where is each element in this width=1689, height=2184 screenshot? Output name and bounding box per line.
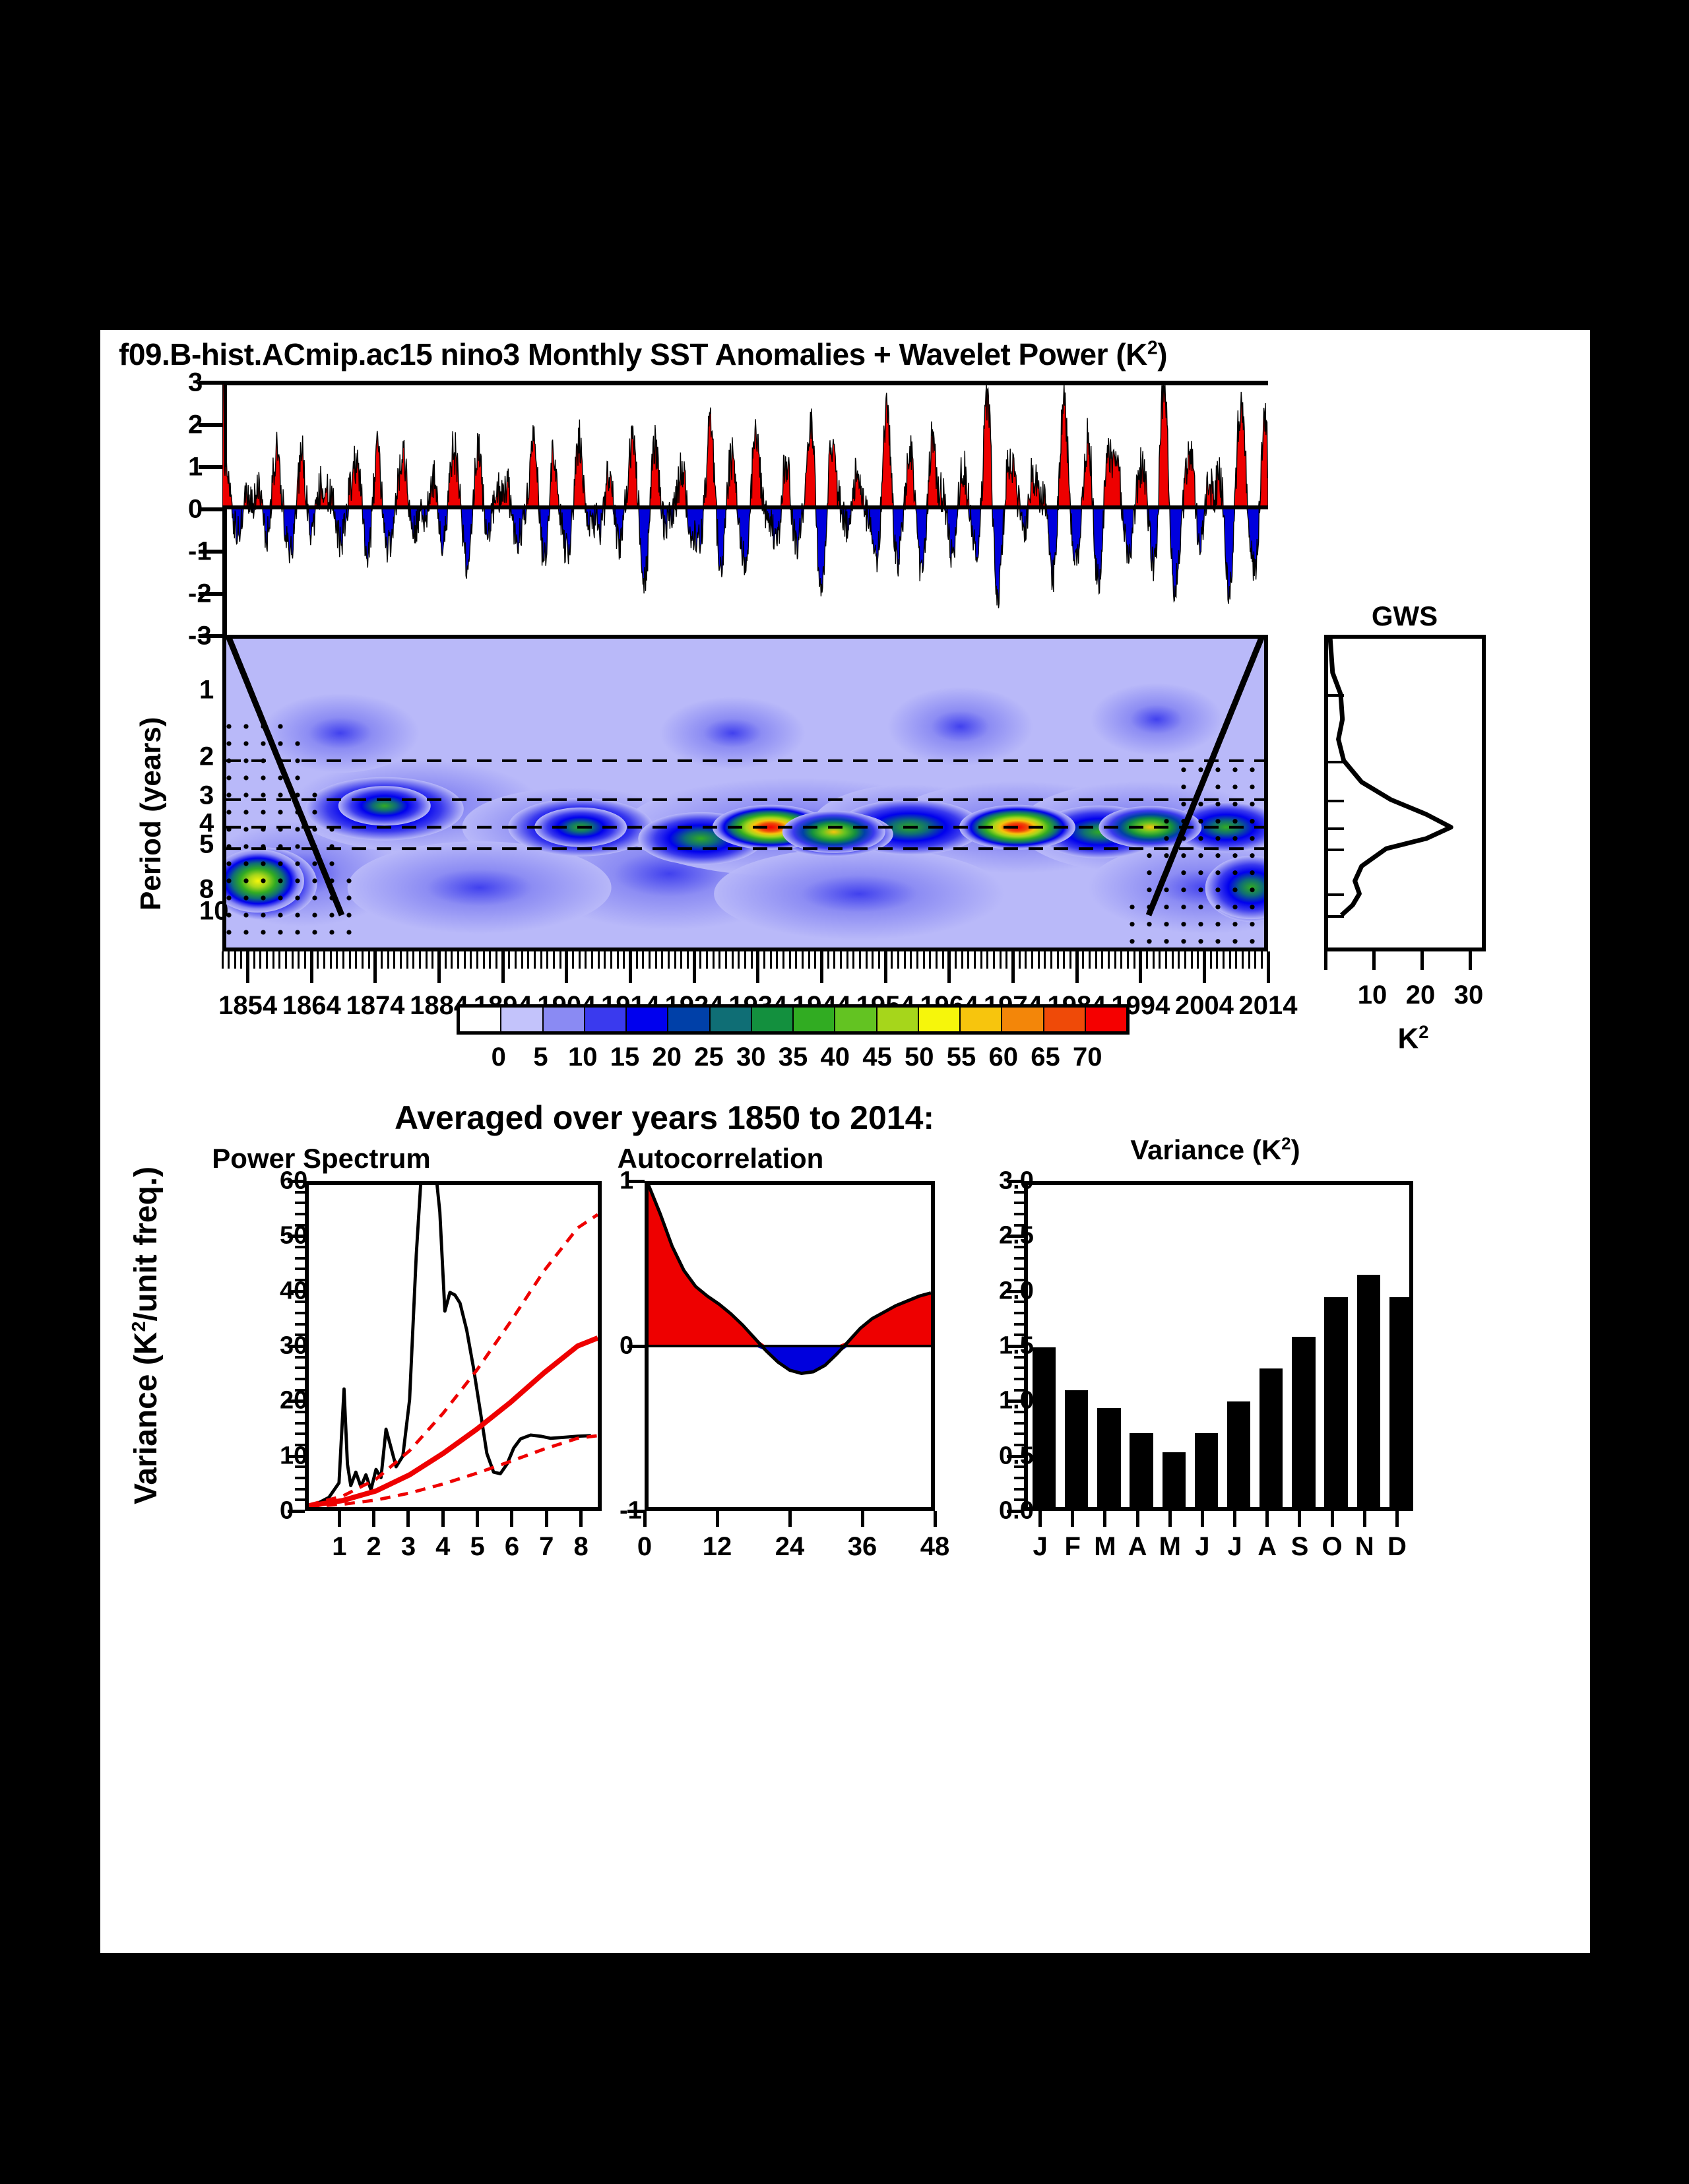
autocorrelation-panel [645, 1181, 935, 1511]
power-spectrum-xtick-3 [406, 1511, 410, 1527]
wavelet-xtick-major [246, 951, 249, 983]
wavelet-sig-dot [278, 827, 282, 831]
variance-bar-M [1097, 1408, 1120, 1507]
wavelet-xtick-minor [866, 951, 868, 969]
wavelet-xtick-minor [298, 951, 300, 969]
wavelet-sig-dot [1250, 939, 1254, 944]
power-spectrum-xtick-8 [579, 1511, 583, 1527]
wavelet-xtick-minor [355, 951, 357, 969]
wavelet-sig-dot [295, 913, 300, 917]
wavelet-xtick-minor [1050, 951, 1052, 969]
variance-ytick-minor [1014, 1213, 1024, 1215]
gws-xlabel-30: 30 [1454, 980, 1484, 1010]
wavelet-xtick-minor [833, 951, 835, 969]
wavelet-sig-dot [261, 758, 265, 763]
wavelet-xtick-minor [967, 951, 969, 969]
variance-ytick-minor [1014, 1257, 1024, 1260]
ts-ylabel-m2: -2 [188, 579, 212, 609]
wavelet-xtick-minor [827, 951, 829, 969]
page-title: f09.B-hist.ACmip.ac15 nino3 Monthly SST … [119, 337, 1167, 372]
wavelet-sig-dot [278, 758, 282, 763]
power-spectrum-xlabel-1: 1 [332, 1532, 346, 1562]
wavelet-sig-dot [1215, 767, 1220, 772]
gws-xtick-0 [1324, 951, 1327, 970]
wavelet-sig-dot [312, 792, 317, 797]
wavelet-xtick-minor [897, 951, 899, 969]
wavelet-xlabel-1874: 1874 [346, 991, 404, 1021]
variance-xtick-S [1298, 1511, 1301, 1527]
wavelet-sig-dot [295, 810, 300, 814]
wavelet-sig-dot [312, 844, 317, 849]
wavelet-xtick-major [1075, 951, 1079, 983]
wavelet-xtick-minor [579, 951, 581, 969]
variance-ytick-minor [1014, 1312, 1024, 1314]
timeseries-plot [222, 381, 1268, 635]
power-spectrum-xtick-1 [338, 1511, 341, 1527]
wavelet-xtick-minor [1184, 951, 1186, 969]
power-spectrum-xtick-6 [510, 1511, 513, 1527]
wavelet-sig-dot [1181, 939, 1186, 944]
wavelet-sig-dot [261, 930, 265, 934]
wavelet-xtick-major [501, 951, 505, 983]
power-spectrum-ytick-minor [295, 1498, 305, 1501]
wavelet-sig-dot [261, 741, 265, 746]
wv-ylabel-1: 1 [199, 676, 214, 705]
variance-xlabel-8: S [1291, 1532, 1309, 1562]
wavelet-sig-dot [1181, 836, 1186, 841]
autocorrelation-xlabel-48: 48 [920, 1532, 950, 1562]
wavelet-xtick-minor [929, 951, 931, 969]
wavelet-xtick-minor [1063, 951, 1065, 969]
wavelet-sig-dot [329, 930, 334, 934]
wavelet-sig-dot [1147, 853, 1151, 858]
wavelet-sig-dot [1181, 819, 1186, 823]
figure-canvas: f09.B-hist.ACmip.ac15 nino3 Monthly SST … [100, 330, 1590, 1953]
autocorrelation-xtick-0 [643, 1511, 647, 1527]
wavelet-sig-dot [1164, 853, 1168, 858]
wavelet-sig-dot [261, 792, 265, 797]
wavelet-xtick-minor [814, 951, 816, 969]
wavelet-sig-dot [329, 895, 334, 900]
variance-ytick-minor [1014, 1323, 1024, 1326]
variance-xlabel-6: J [1227, 1532, 1242, 1562]
wavelet-xtick-minor [412, 951, 414, 969]
wavelet-sig-dot [226, 724, 231, 728]
wavelet-sig-dot [278, 913, 282, 917]
wavelet-sig-dot [278, 724, 282, 728]
wavelet-sig-dot [295, 844, 300, 849]
power-spectrum-xlabel-3: 3 [401, 1532, 416, 1562]
wavelet-sig-dot [1215, 819, 1220, 823]
autocorrelation-ylabel--1: -1 [620, 1497, 642, 1526]
wavelet-sig-dot [1181, 887, 1186, 892]
variance-ytick-minor [1014, 1432, 1024, 1435]
autocorrelation-xtick-48 [934, 1511, 937, 1527]
wavelet-xtick-minor [980, 951, 982, 969]
colorbar-swatch-10 [877, 1008, 919, 1031]
wavelet-xtick-minor [1165, 951, 1167, 969]
variance-xlabel-2: M [1094, 1532, 1116, 1562]
wavelet-xtick-minor [1044, 951, 1046, 969]
wavelet-sig-dot [295, 930, 300, 934]
wavelet-xtick-minor [936, 951, 938, 969]
wavelet-xtick-minor [381, 951, 383, 969]
wavelet-xtick-minor [802, 951, 804, 969]
wavelet-sig-dot [295, 895, 300, 900]
variance-xlabel-3: A [1128, 1532, 1147, 1562]
wavelet-sig-dot [1250, 785, 1254, 789]
wavelet-sig-dot [226, 810, 231, 814]
wavelet-sig-dot [278, 792, 282, 797]
wavelet-sig-dot [1147, 887, 1151, 892]
wavelet-sig-dot [1164, 836, 1168, 841]
variance-bar-M [1163, 1452, 1186, 1507]
wavelet-xtick-minor [661, 951, 663, 969]
wavelet-xtick-minor [521, 951, 523, 969]
wavelet-xtick-minor [259, 951, 261, 969]
variance-bar-J [1227, 1401, 1250, 1507]
wavelet-sig-dot [243, 758, 248, 763]
wavelet-diffuse-10 [888, 687, 1033, 766]
wavelet-xtick-major [310, 951, 313, 983]
power-spectrum-series-2 [309, 1215, 598, 1505]
wavelet-xtick-minor [349, 951, 351, 969]
colorbar-swatch-5 [668, 1008, 710, 1031]
ts-ylabel-3: 3 [188, 368, 203, 398]
power-spectrum-plot [309, 1185, 598, 1507]
wavelet-xtick-minor [534, 951, 536, 969]
wavelet-xtick-major [629, 951, 632, 983]
wavelet-xtick-minor [770, 951, 772, 969]
colorbar-label-60: 60 [989, 1043, 1019, 1072]
variance-xtick-A [1265, 1511, 1269, 1527]
power-spectrum-ytick-minor [295, 1378, 305, 1380]
wavelet-contour-plot [226, 639, 1264, 947]
wavelet-sig-dot [261, 878, 265, 883]
autocorrelation-xtick-24 [788, 1511, 792, 1527]
autocorrelation-xtick-36 [861, 1511, 864, 1527]
wavelet-xtick-minor [1254, 951, 1256, 969]
wavelet-sig-dot [1232, 819, 1237, 823]
wavelet-sig-dot [295, 775, 300, 780]
ts-ylabel-2: 2 [188, 410, 203, 440]
wavelet-sig-dot [243, 741, 248, 746]
wavelet-xlabel-1854: 1854 [218, 991, 277, 1021]
wavelet-xtick-minor [476, 951, 478, 969]
wavelet-xtick-minor [674, 951, 676, 969]
wavelet-xtick-major [1011, 951, 1015, 983]
wavelet-sig-dot [1232, 767, 1237, 772]
wavelet-xtick-minor [623, 951, 625, 969]
power-spectrum-xtick-5 [476, 1511, 479, 1527]
wavelet-sig-dot [1181, 905, 1186, 909]
gws-panel [1324, 635, 1486, 951]
wavelet-xtick-minor [789, 951, 791, 969]
wavelet-xtick-minor [642, 951, 644, 969]
colorbar-label-20: 20 [653, 1043, 682, 1072]
wavelet-xtick-minor [1089, 951, 1091, 969]
colorbar-label-45: 45 [862, 1043, 892, 1072]
wavelet-sig-dot [243, 878, 248, 883]
variance-ytick-minor [1014, 1488, 1024, 1491]
power-spectrum-xlabel-5: 5 [470, 1532, 485, 1562]
wavelet-sig-dot [1250, 853, 1254, 858]
wavelet-xtick-minor [234, 951, 236, 969]
wavelet-xtick-minor [1101, 951, 1103, 969]
power-spectrum-ytick-minor [295, 1366, 305, 1369]
wavelet-sig-dot [295, 827, 300, 831]
power-spectrum-xtick-7 [545, 1511, 548, 1527]
power-spectrum-ytick-minor [295, 1312, 305, 1314]
wavelet-xtick-minor [445, 951, 447, 969]
wavelet-xtick-minor [1005, 951, 1007, 969]
power-spectrum-ytick-minor [295, 1422, 305, 1425]
wavelet-sig-dot [1198, 785, 1203, 789]
wavelet-sig-dot [243, 930, 248, 934]
autocorrelation-plot [649, 1185, 931, 1507]
variance-bar-J [1033, 1347, 1056, 1507]
power-spectrum-series-0 [309, 1185, 591, 1506]
variance-xlabel-9: O [1322, 1532, 1343, 1562]
autocorrelation-xtick-12 [716, 1511, 719, 1527]
wavelet-xtick-minor [1133, 951, 1135, 969]
variance-xlabel-10: N [1355, 1532, 1374, 1562]
wavelet-sig-dot [1147, 939, 1151, 944]
wavelet-sig-dot [1215, 887, 1220, 892]
wavelet-xtick-minor [974, 951, 976, 969]
wavelet-xtick-minor [878, 951, 880, 969]
wavelet-xtick-major [565, 951, 568, 983]
wavelet-xtick-minor [1025, 951, 1027, 969]
wavelet-xtick-minor [323, 951, 325, 969]
wavelet-sig-dot [243, 861, 248, 866]
wavelet-sig-dot [243, 724, 248, 728]
wavelet-sig-dot [346, 930, 351, 934]
wavelet-xtick-minor [668, 951, 670, 969]
wavelet-xtick-minor [782, 951, 784, 969]
wavelet-sig-dot [278, 861, 282, 866]
variance-bar-D [1389, 1297, 1413, 1507]
colorbar [457, 1004, 1130, 1035]
wavelet-sig-dot [1130, 939, 1134, 944]
timeseries-panel: 3 2 1 0 -1 -2 -3 [222, 381, 1268, 635]
wavelet-sig-dot [243, 775, 248, 780]
power-spectrum-ylabel-0: 0 [280, 1497, 294, 1526]
wavelet-sig-dot [295, 792, 300, 797]
wavelet-xtick-minor [508, 951, 510, 969]
wavelet-sig-dot [1147, 870, 1151, 875]
wavelet-sig-dot [1232, 922, 1237, 926]
colorbar-label-50: 50 [905, 1043, 934, 1072]
wavelet-sig-dot [243, 895, 248, 900]
wavelet-sig-dot [312, 878, 317, 883]
wavelet-sig-dot [278, 741, 282, 746]
wavelet-xtick-minor [636, 951, 638, 969]
wavelet-xaxis-ticks [222, 951, 1268, 987]
power-spectrum-title: Power Spectrum [212, 1143, 430, 1174]
wavelet-xtick-minor [713, 951, 715, 969]
wavelet-xtick-minor [808, 951, 810, 969]
wavelet-sig-dot [1198, 767, 1203, 772]
wavelet-xtick-minor [266, 951, 268, 969]
wavelet-xtick-minor [527, 951, 529, 969]
ts-ylabel-1: 1 [188, 453, 203, 482]
wavelet-xtick-minor [1191, 951, 1193, 969]
wavelet-xtick-minor [923, 951, 925, 969]
wavelet-sig-dot [1232, 853, 1237, 858]
wavelet-xtick-minor [891, 951, 893, 969]
ts-ylabel-0: 0 [188, 495, 203, 525]
gws-ytick-8 [1328, 893, 1344, 896]
power-spectrum-ytick-minor [295, 1268, 305, 1270]
wavelet-sig-dot [1198, 836, 1203, 841]
wavelet-xtick-minor [1114, 951, 1116, 969]
wavelet-sig-dot [278, 895, 282, 900]
wavelet-xtick-minor [699, 951, 701, 969]
wavelet-sig-dot [1215, 836, 1220, 841]
variance-xlabel-0: J [1033, 1532, 1047, 1562]
wavelet-xtick-minor [961, 951, 963, 969]
autocorrelation-xlabel-12: 12 [703, 1532, 732, 1562]
wavelet-xtick-minor [1153, 951, 1155, 969]
wavelet-xtick-minor [222, 951, 224, 969]
variance-xlabel-7: A [1258, 1532, 1277, 1562]
wavelet-xtick-minor [598, 951, 600, 969]
wavelet-sig-dot [243, 792, 248, 797]
wavelet-sig-dot [1198, 905, 1203, 909]
wavelet-sig-dot [1164, 905, 1168, 909]
wavelet-sig-dot [312, 827, 317, 831]
gws-xtick-10 [1372, 951, 1376, 970]
gws-ytick-5 [1328, 849, 1344, 851]
power-spectrum-xtick-4 [441, 1511, 445, 1527]
wavelet-sig-dot [278, 930, 282, 934]
wavelet-xtick-minor [304, 951, 306, 969]
variance-xtick-J [1233, 1511, 1236, 1527]
wavelet-sig-dot [226, 775, 231, 780]
wavelet-xtick-minor [718, 951, 720, 969]
wavelet-xtick-minor [1031, 951, 1033, 969]
wavelet-xtick-minor [1159, 951, 1161, 969]
wavelet-xtick-minor [751, 951, 753, 969]
wv-ylabel-10: 10 [199, 897, 229, 926]
variance-bars [1028, 1185, 1409, 1507]
wavelet-sig-dot [1232, 887, 1237, 892]
wavelet-xtick-minor [1229, 951, 1231, 969]
power-spectrum-ytick-minor [295, 1257, 305, 1260]
wavelet-sig-dot [1181, 870, 1186, 875]
wavelet-sig-dot [1164, 887, 1168, 892]
wavelet-xtick-minor [292, 951, 294, 969]
power-spectrum-ytick-minor [295, 1213, 305, 1215]
power-spectrum-ytick-minor [295, 1432, 305, 1435]
wavelet-xtick-minor [1210, 951, 1212, 969]
wavelet-xtick-minor [706, 951, 708, 969]
wavelet-sig-dot [329, 878, 334, 883]
variance-ylabel-0.5: 0.5 [999, 1442, 1034, 1470]
wavelet-xtick-minor [464, 951, 466, 969]
wavelet-sig-dot [295, 861, 300, 866]
variance-ylabel-2.0: 2.0 [999, 1277, 1034, 1305]
wavelet-sig-dot [1164, 939, 1168, 944]
wavelet-sig-dot [295, 758, 300, 763]
ts-ylabel-m3: -3 [188, 622, 212, 651]
wavelet-xtick-major [820, 951, 823, 983]
variance-xtick-A [1136, 1511, 1139, 1527]
autocorrelation-xlabel-24: 24 [775, 1532, 805, 1562]
wavelet-xtick-major [437, 951, 441, 983]
wavelet-xtick-major [1203, 951, 1206, 983]
colorbar-swatch-14 [1044, 1008, 1086, 1031]
wavelet-sig-dot [243, 913, 248, 917]
variance-ytick-minor [1014, 1366, 1024, 1369]
power-spectrum-xtick-2 [372, 1511, 375, 1527]
variance-ylabel-1.0: 1.0 [999, 1387, 1034, 1415]
gws-title: GWS [1372, 600, 1438, 632]
colorbar-swatch-15 [1086, 1008, 1126, 1031]
power-spectrum-ylabel-30: 30 [280, 1332, 307, 1361]
colorbar-swatch-13 [1002, 1008, 1044, 1031]
variance-xlabel-11: D [1387, 1532, 1407, 1562]
gws-unit-label: K2 [1398, 1021, 1429, 1056]
bottom-subtitle: Averaged over years 1850 to 2014: [395, 1099, 934, 1137]
power-spectrum-ylabel-10: 10 [280, 1442, 307, 1470]
autocorrelation-title: Autocorrelation [618, 1143, 824, 1174]
wavelet-xtick-minor [763, 951, 765, 969]
power-spectrum-ytick-minor [295, 1202, 305, 1204]
wv-ytick-5 [222, 849, 226, 852]
wavelet-xtick-minor [604, 951, 606, 969]
wavelet-xtick-minor [916, 951, 918, 969]
wavelet-sig-dot [226, 827, 231, 831]
wavelet-xtick-minor [253, 951, 255, 969]
wavelet-sig-dot [1181, 922, 1186, 926]
variance-ytick-minor [1014, 1268, 1024, 1270]
wavelet-sig-dot [1232, 785, 1237, 789]
wavelet-sig-dot [261, 895, 265, 900]
wavelet-yaxis-title: Period (years) [135, 717, 168, 911]
wavelet-xtick-minor [942, 951, 944, 969]
ts-positive-area [222, 381, 1268, 507]
wavelet-xtick-minor [1242, 951, 1244, 969]
wavelet-xtick-minor [904, 951, 906, 969]
wavelet-xtick-minor [489, 951, 491, 969]
autocorrelation-xlabel-0: 0 [637, 1532, 652, 1562]
variance-xlabel-4: M [1159, 1532, 1181, 1562]
wavelet-xtick-minor [1178, 951, 1180, 969]
colorbar-label-40: 40 [821, 1043, 850, 1072]
colorbar-swatch-0 [460, 1008, 501, 1031]
wavelet-xtick-minor [910, 951, 912, 969]
wavelet-sig-dot [261, 913, 265, 917]
wavelet-sig-dot [1250, 802, 1254, 806]
wavelet-sig-dot [312, 861, 317, 866]
ts-ylabel-m1: -1 [188, 537, 212, 567]
wavelet-xtick-minor [336, 951, 338, 969]
power-spectrum-xlabel-6: 6 [505, 1532, 519, 1562]
wavelet-xtick-minor [744, 951, 746, 969]
wavelet-xtick-minor [725, 951, 727, 969]
power-spectrum-xlabel-4: 4 [435, 1532, 450, 1562]
wv-ytick-2 [222, 761, 226, 764]
wavelet-xtick-major [373, 951, 377, 983]
wavelet-sig-dot [1215, 922, 1220, 926]
wavelet-hotspot-4 [782, 811, 885, 853]
wavelet-xtick-minor [342, 951, 344, 969]
wavelet-xtick-minor [1038, 951, 1040, 969]
wavelet-xtick-minor [400, 951, 402, 969]
wavelet-sig-dot [346, 895, 351, 900]
